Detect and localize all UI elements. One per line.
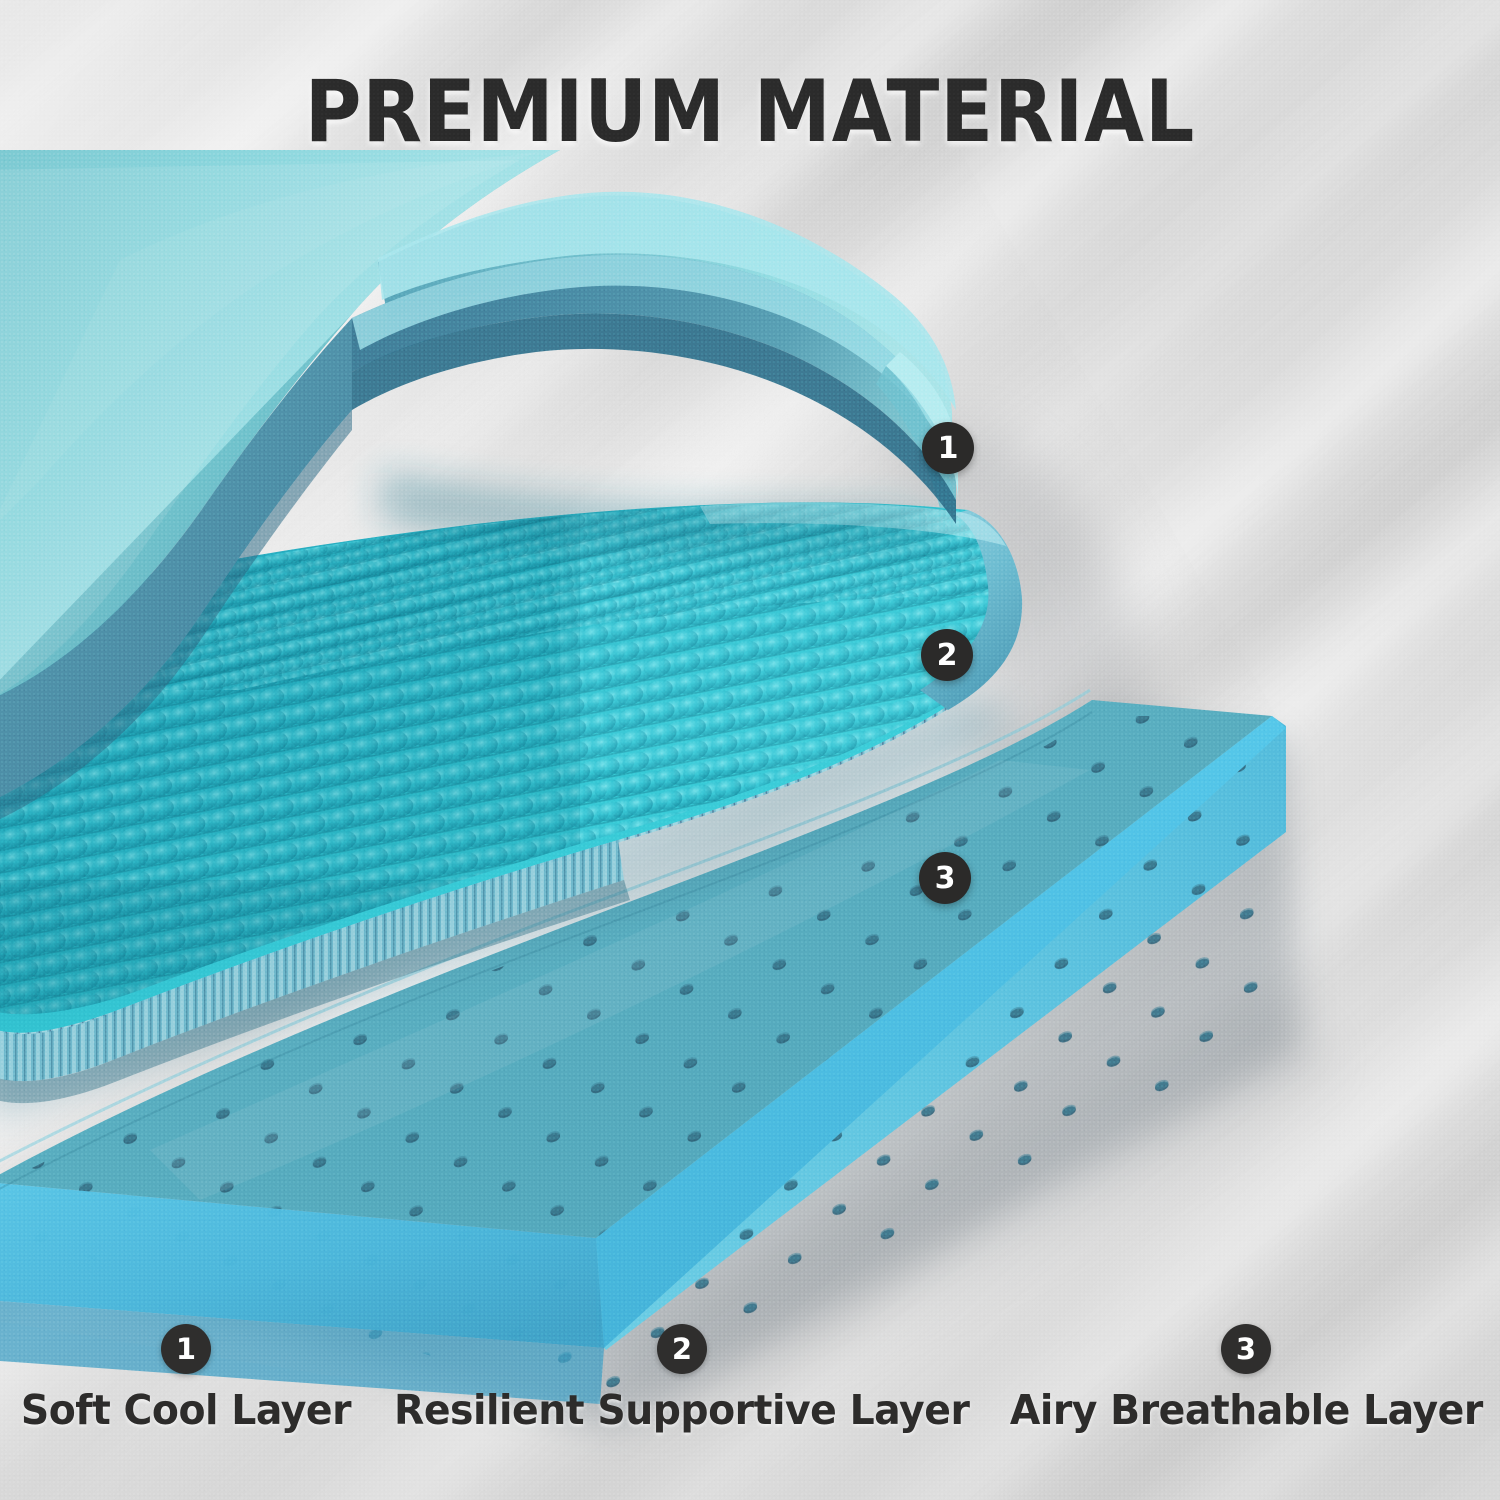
callout-badge-2[interactable]: 2	[921, 629, 973, 681]
foam-layer-illustration	[0, 0, 1500, 1500]
legend-label-1: Soft Cool Layer	[21, 1386, 351, 1434]
legend-label-3: Airy Breathable Layer	[1010, 1386, 1483, 1434]
legend-item-soft-cool-layer[interactable]: 1 Soft Cool Layer	[0, 1324, 372, 1434]
legend: 1 Soft Cool Layer 2 Resilient Supportive…	[0, 1324, 1500, 1474]
legend-label-2: Resilient Supportive Layer	[394, 1386, 969, 1434]
legend-badge-1: 1	[161, 1324, 211, 1374]
legend-badge-2: 2	[657, 1324, 707, 1374]
legend-badge-3: 3	[1221, 1324, 1271, 1374]
legend-item-resilient-supportive-layer[interactable]: 2 Resilient Supportive Layer	[372, 1324, 992, 1434]
legend-item-airy-breathable-layer[interactable]: 3 Airy Breathable Layer	[992, 1324, 1500, 1434]
product-infographic: PREMIUM MATERIAL	[0, 0, 1500, 1500]
callout-badge-3[interactable]: 3	[919, 852, 971, 904]
callout-badge-1[interactable]: 1	[922, 422, 974, 474]
